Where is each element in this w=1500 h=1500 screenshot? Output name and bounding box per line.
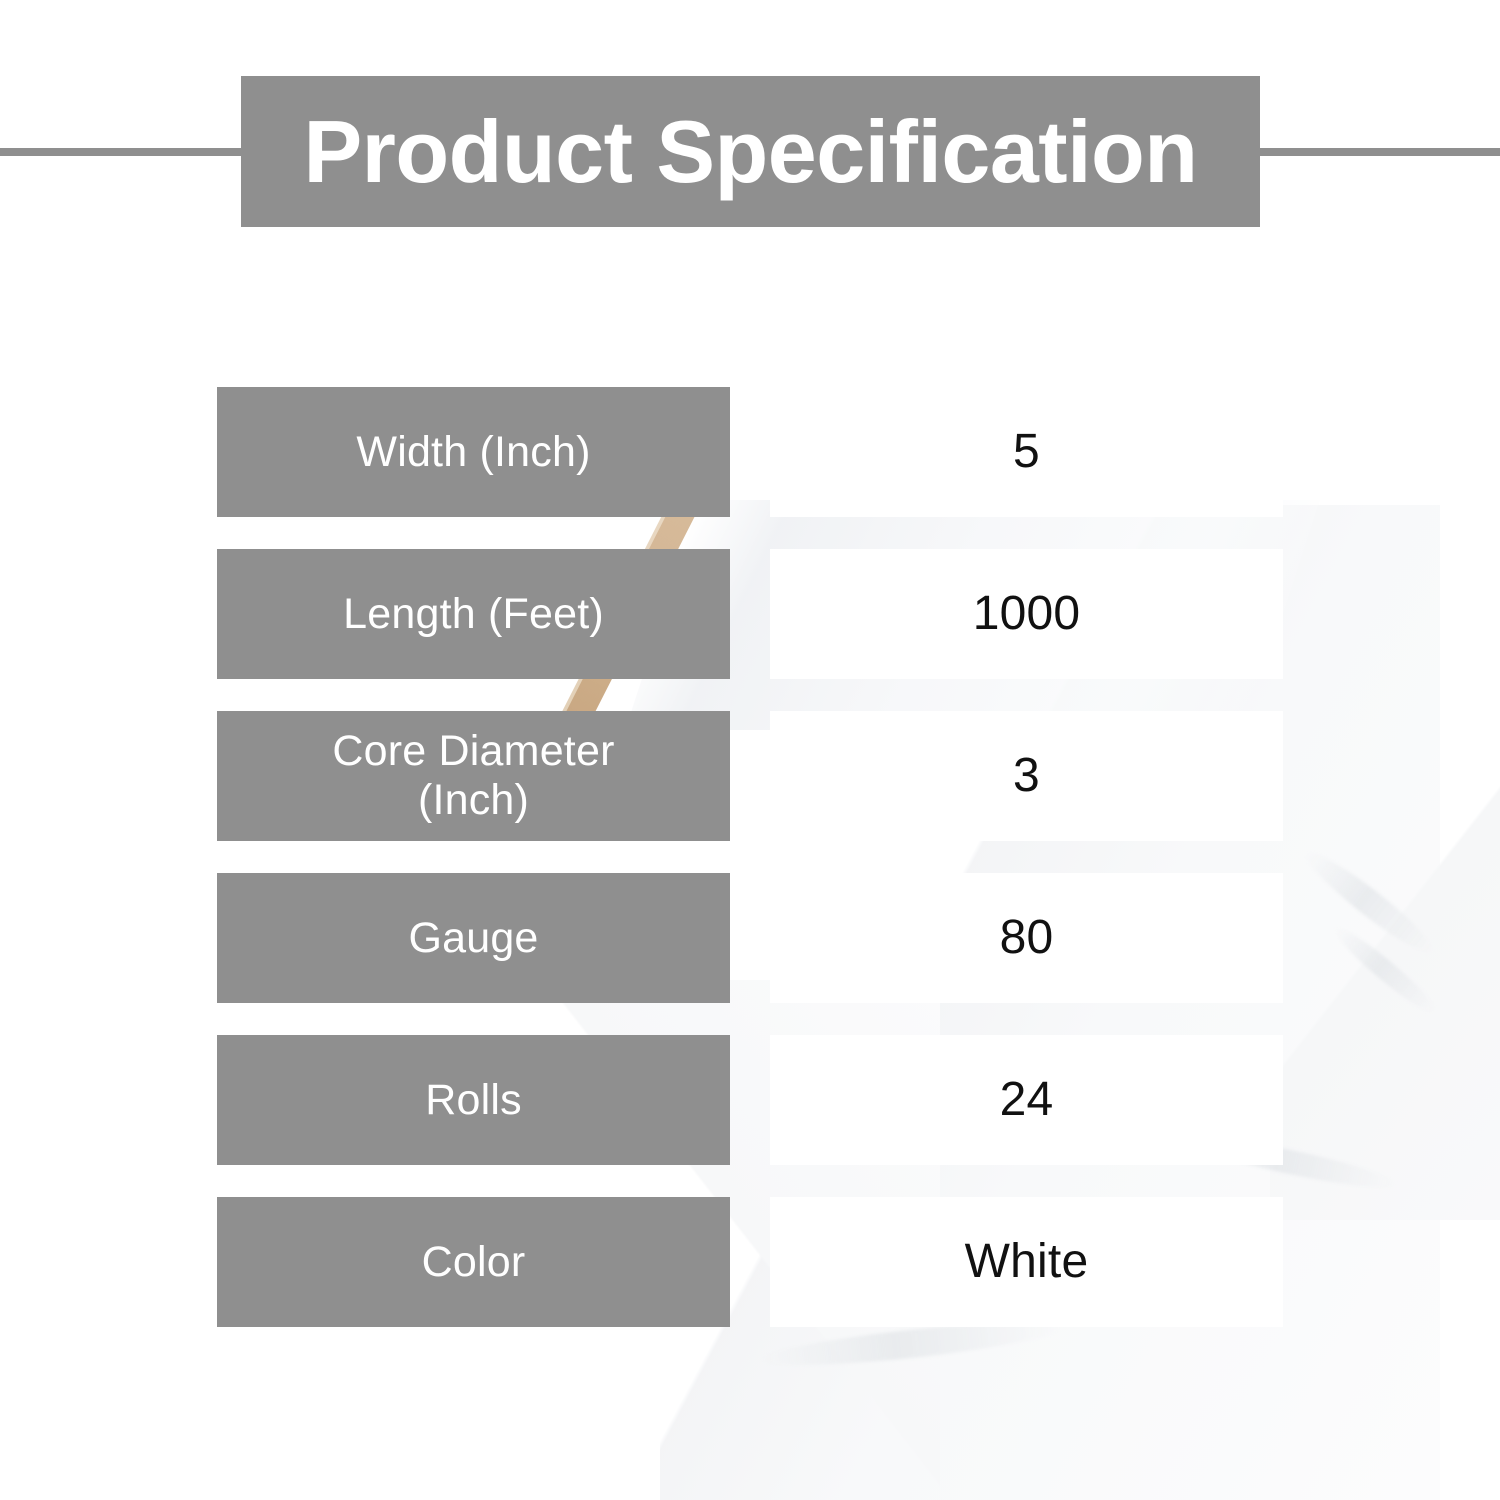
spec-label-text: Rolls: [425, 1076, 522, 1125]
spec-value-text: 24: [1000, 1076, 1054, 1124]
spec-value-text: 5: [1013, 428, 1040, 476]
table-row: Length (Feet) 1000: [217, 549, 1283, 679]
spec-value-text: White: [965, 1238, 1089, 1286]
spec-label-cell-rolls: Rolls: [217, 1035, 730, 1165]
spec-label-text: Gauge: [408, 914, 538, 963]
table-row: Width (Inch) 5: [217, 387, 1283, 517]
table-row: Color White: [217, 1197, 1283, 1327]
spec-value-cell-gauge: 80: [770, 873, 1283, 1003]
header-rule-right: [1258, 148, 1500, 156]
spec-value-cell-rolls: 24: [770, 1035, 1283, 1165]
spec-label-cell-gauge: Gauge: [217, 873, 730, 1003]
film-wrinkle: [1299, 844, 1441, 963]
spec-label-text: Width (Inch): [356, 428, 590, 477]
spec-value-text: 1000: [973, 590, 1081, 638]
table-row: Gauge 80: [217, 873, 1283, 1003]
header-rule-left: [0, 148, 243, 156]
spec-value-cell-core-diameter: 3: [770, 711, 1283, 841]
spec-value-text: 3: [1013, 752, 1040, 800]
page-title-banner: Product Specification: [241, 76, 1260, 227]
spec-label-text: Core Diameter (Inch): [332, 727, 614, 824]
film-wrinkle: [1329, 921, 1441, 1020]
spec-label-text: Length (Feet): [343, 590, 604, 639]
product-specification-infographic: Product Specification Width (Inch) 5 Len…: [0, 0, 1500, 1500]
spec-value-text: 80: [1000, 914, 1054, 962]
spec-label-cell-width: Width (Inch): [217, 387, 730, 517]
spec-value-cell-length: 1000: [770, 549, 1283, 679]
film-roll-right-edge: [1270, 600, 1500, 1220]
spec-label-cell-color: Color: [217, 1197, 730, 1327]
spec-value-cell-width: 5: [770, 387, 1283, 517]
spec-label-cell-length: Length (Feet): [217, 549, 730, 679]
table-row: Core Diameter (Inch) 3: [217, 711, 1283, 841]
spec-value-cell-color: White: [770, 1197, 1283, 1327]
table-row: Rolls 24: [217, 1035, 1283, 1165]
page-title: Product Specification: [303, 108, 1197, 196]
specification-table: Width (Inch) 5 Length (Feet) 1000 Core D…: [217, 387, 1283, 1327]
spec-label-text: Color: [422, 1238, 526, 1287]
spec-label-cell-core-diameter: Core Diameter (Inch): [217, 711, 730, 841]
